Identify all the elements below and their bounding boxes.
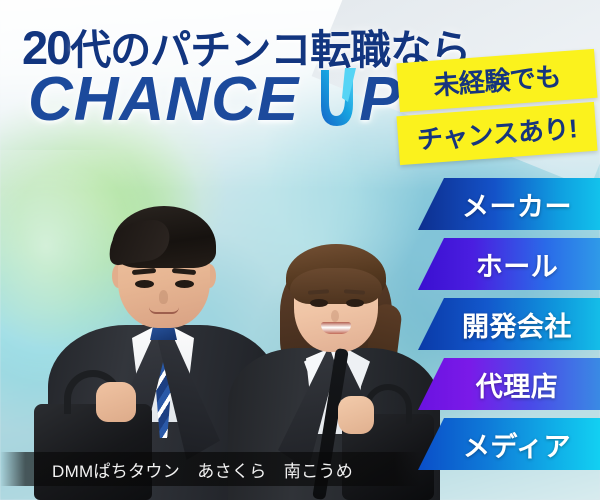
woman-bangs	[290, 268, 382, 304]
category-label: ホール	[460, 245, 559, 284]
logo-up-group: P	[315, 68, 400, 130]
category-button-agency[interactable]: 代理店	[418, 358, 600, 410]
category-label: メディア	[447, 425, 571, 464]
badge-line-1: 未経験でも	[396, 49, 597, 112]
woman-hand	[338, 396, 374, 434]
people-photo	[0, 150, 440, 500]
category-list: メーカー ホール 開発会社 代理店 メディア	[418, 178, 600, 478]
logo-word-chance: CHANCE	[28, 70, 299, 130]
caption-text: DMMぱちタウン あさくら 南こうめ	[0, 457, 353, 482]
category-label: メーカー	[446, 185, 572, 224]
category-button-media[interactable]: メディア	[418, 418, 600, 470]
category-button-hall[interactable]: ホール	[418, 238, 600, 290]
woman-eye-right	[346, 299, 364, 307]
man-eye-left	[135, 280, 154, 288]
man-nose	[159, 290, 168, 304]
man-eye-right	[175, 280, 194, 288]
woman-nose	[331, 310, 339, 322]
logo-u-swoosh-icon	[315, 68, 357, 130]
experience-badge: 未経験でも チャンスあり!	[398, 56, 596, 158]
category-label: 開発会社	[446, 305, 572, 344]
man-hand	[96, 382, 136, 422]
man-mouth	[149, 307, 179, 314]
category-button-maker[interactable]: メーカー	[418, 178, 600, 230]
category-button-development-company[interactable]: 開発会社	[418, 298, 600, 350]
caption-bar: DMMぱちタウン あさくら 南こうめ	[0, 452, 420, 486]
woman-eye-left	[310, 299, 328, 307]
badge-line-2: チャンスあり!	[396, 102, 597, 165]
chance-up-logo: CHANCE P	[28, 68, 401, 130]
category-label: 代理店	[460, 365, 559, 404]
logo-letter-p: P	[359, 70, 400, 130]
woman-mouth	[321, 322, 351, 334]
advertisement-banner[interactable]: 20代のパチンコ転職なら CHANCE P	[0, 0, 600, 500]
